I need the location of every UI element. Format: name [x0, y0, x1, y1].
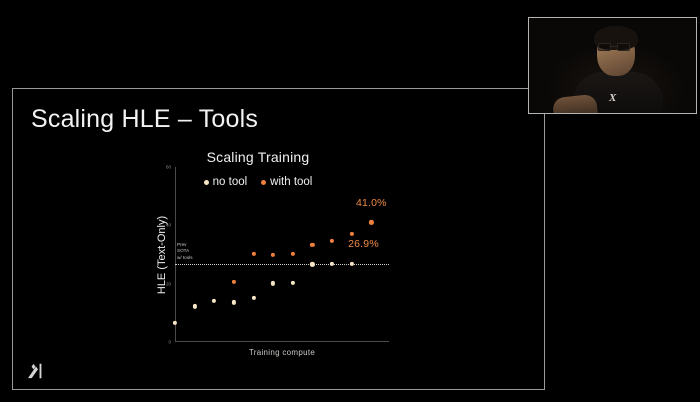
xai-logo-icon: [27, 363, 45, 379]
chart-title: Scaling Training: [113, 149, 403, 165]
data-point: [350, 261, 354, 265]
y-axis-title: HLE (Text-Only): [156, 215, 168, 293]
x-axis-title: Training compute: [175, 348, 389, 357]
data-point: [232, 280, 236, 284]
data-point: [173, 321, 177, 325]
x-axis-line: [175, 341, 389, 342]
glasses-icon: [598, 43, 631, 51]
presenter-webcam-overlay: X: [528, 17, 697, 114]
scaling-training-chart: Scaling Training no tool with tool 02040…: [113, 149, 403, 381]
data-point: [271, 253, 275, 257]
glasses-left-lens: [598, 43, 611, 51]
plot-area: 0204060 HLE (Text-Only) Training compute…: [175, 167, 389, 342]
prev-sota-label-line1: Prev: [177, 242, 193, 249]
data-point: [232, 300, 236, 304]
data-point: [251, 252, 255, 256]
data-point: [310, 262, 314, 266]
data-point: [310, 243, 314, 247]
data-point: [251, 296, 255, 300]
presentation-slide: Scaling HLE – Tools Scaling Training no …: [12, 88, 545, 390]
y-tick-label: 60: [166, 165, 171, 170]
data-point: [291, 280, 295, 284]
data-point: [271, 281, 275, 285]
prev-sota-label-line2: SOTA: [177, 248, 193, 255]
glasses-bridge: [611, 46, 617, 47]
prev-sota-label: Prev SOTA w/ tools: [177, 242, 193, 262]
value-annotation: 26.9%: [348, 238, 379, 250]
shirt-x-logo: X: [609, 92, 616, 104]
y-tick-label: 0: [168, 340, 171, 345]
data-point: [330, 262, 334, 266]
slide-title: Scaling HLE – Tools: [31, 105, 258, 134]
data-point: [369, 220, 373, 224]
data-point: [350, 231, 354, 235]
data-point: [291, 252, 295, 256]
prev-sota-reference-line: [175, 264, 389, 265]
data-point: [212, 298, 216, 302]
glasses-right-lens: [617, 43, 630, 51]
y-axis-line: [175, 167, 176, 342]
value-annotation: 41.0%: [356, 197, 387, 209]
prev-sota-label-line3: w/ tools: [177, 255, 193, 262]
data-point: [193, 304, 197, 308]
data-point: [330, 239, 334, 243]
